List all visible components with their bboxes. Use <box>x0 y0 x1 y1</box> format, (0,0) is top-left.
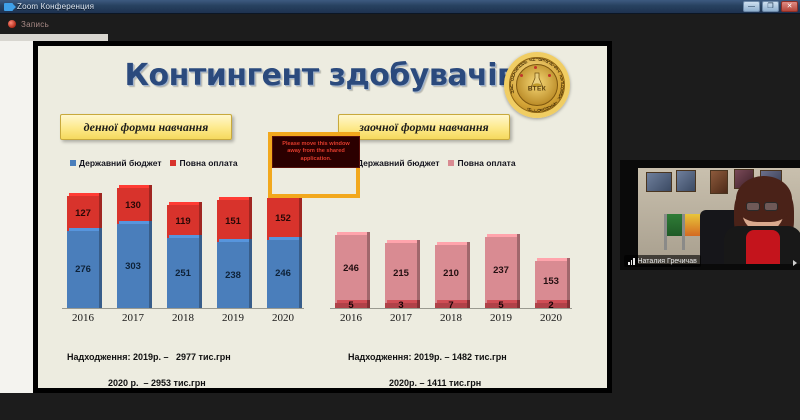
bar-column: 2375 <box>485 186 517 308</box>
bar-column: 127276 <box>67 186 99 308</box>
bar-segment: 151 <box>217 200 249 242</box>
record-dot-icon[interactable] <box>8 20 16 28</box>
emblem-accent-dot <box>548 74 551 77</box>
bar-segment: 303 <box>117 224 149 308</box>
x-axis-label: 2017 <box>117 312 149 324</box>
emblem-accent-dot <box>520 74 523 77</box>
x-axis-label: 2018 <box>167 312 199 324</box>
bar-column: 2107 <box>435 186 467 308</box>
bar-segment: 276 <box>67 231 99 308</box>
x-axis-label: 2019 <box>217 312 249 324</box>
bar-value-label: 5 <box>498 300 503 311</box>
emblem-center-text: ВТЕК <box>528 85 546 92</box>
bar-value-label: 215 <box>393 268 409 279</box>
bar-segment: 238 <box>217 242 249 308</box>
video-feed <box>638 168 800 264</box>
bar-column: 119251 <box>167 186 199 308</box>
bar-value-label: 210 <box>443 268 459 279</box>
legend-label: Повна оплата <box>179 158 237 168</box>
bar-value-label: 130 <box>125 200 141 211</box>
participant-name: Наталия Гречичав <box>638 258 697 265</box>
bar-segment: 246 <box>335 235 367 303</box>
wall-picture <box>646 172 672 192</box>
banner-part-time: заочної форми навчання <box>338 114 510 140</box>
x-axis-label: 2016 <box>335 312 367 324</box>
bar-value-label: 303 <box>125 261 141 272</box>
bar-value-label: 5 <box>348 300 353 311</box>
window-controls[interactable]: — ❐ ✕ <box>743 1 798 12</box>
bar-value-label: 7 <box>448 300 453 311</box>
bar-segment: 251 <box>167 238 199 308</box>
bar-value-label: 246 <box>343 263 359 274</box>
bar-segment: 246 <box>267 240 299 308</box>
participant-name-badge: Наталия Гречичав <box>624 255 701 267</box>
legend-swatch-paid-icon <box>170 160 176 166</box>
x-axis-label: 2018 <box>435 312 467 324</box>
maximize-button[interactable]: ❐ <box>762 1 779 12</box>
chart-x-labels: 20162017201820192020 <box>58 310 308 326</box>
legend-item: Державний бюджет <box>348 158 439 168</box>
close-button[interactable]: ✕ <box>781 1 798 12</box>
window-title: Zoom Конференция <box>17 2 94 11</box>
bar-value-label: 151 <box>225 216 241 227</box>
footnote-line-1: Надходження: 2019р. – 1482 тис.грн <box>348 352 507 362</box>
bar-value-label: 276 <box>75 264 91 275</box>
share-warning-text: Please move this window away from the sh… <box>275 141 357 164</box>
legend-item: Державний бюджет <box>70 158 161 168</box>
bar-segment: 130 <box>117 188 149 224</box>
x-axis-label: 2019 <box>485 312 517 324</box>
chart-bars: 127276130303119251151238152246 <box>58 186 308 308</box>
legend-swatch-budget-icon <box>70 160 76 166</box>
presentation-slide: Контингент здобувачів НАЦІОНАЛЬНИЙ УНІВЕ… <box>38 46 607 388</box>
bar-segment: 237 <box>485 237 517 303</box>
bar-segment: 210 <box>435 245 467 303</box>
wall-picture <box>676 170 696 192</box>
bar-segment: 153 <box>535 261 567 303</box>
flag-yellow-icon <box>682 214 685 250</box>
background-document-toolbar <box>0 34 108 41</box>
legend-swatch-paid-icon <box>448 160 454 166</box>
bar-value-label: 153 <box>543 276 559 287</box>
footnote-full-time: Надходження: 2019р. – 2977 тис.грн 2020 … <box>52 338 231 388</box>
recording-bar: Запись <box>0 14 800 34</box>
bar-segment: 127 <box>67 196 99 231</box>
emblem-accent-dot <box>534 66 537 69</box>
bar-segment: 152 <box>267 198 299 240</box>
minimize-button[interactable]: — <box>743 1 760 12</box>
bar-column: 2153 <box>385 186 417 308</box>
bottom-bar <box>0 393 800 420</box>
bar-column: 152246 <box>267 186 299 308</box>
person-hair <box>736 176 792 222</box>
bar-column: 151238 <box>217 186 249 308</box>
person-red-top <box>746 230 780 264</box>
x-axis-label: 2017 <box>385 312 417 324</box>
zoom-meeting-window: Zoom Конференция — ❐ ✕ Запись Контингент… <box>0 0 800 420</box>
x-axis-label: 2020 <box>535 312 567 324</box>
legend-item: Повна оплата <box>170 158 237 168</box>
legend-label: Державний бюджет <box>357 158 439 168</box>
participant-video-tile[interactable]: Наталия Гречичав <box>620 160 800 270</box>
bar-column: 2465 <box>335 186 367 308</box>
bar-value-label: 119 <box>175 216 190 227</box>
bar-value-label: 152 <box>275 213 291 224</box>
x-axis-label: 2016 <box>67 312 99 324</box>
x-axis-label: 2020 <box>267 312 299 324</box>
bar-segment: 215 <box>385 243 417 303</box>
banner-full-time: денної форми навчання <box>60 114 232 140</box>
legend-part-time: Державний бюджет Повна оплата <box>348 158 516 168</box>
footnote-line-1: Надходження: 2019р. – 2977 тис.грн <box>67 352 231 362</box>
share-warning-tooltip: Please move this window away from the sh… <box>272 136 360 168</box>
chart-axis-line <box>62 308 304 309</box>
bar-value-label: 3 <box>398 300 403 311</box>
legend-item: Повна оплата <box>448 158 515 168</box>
chart-part-time: 24652153210723751532 2016201720182019202… <box>326 186 576 326</box>
flag-green-icon <box>664 214 667 250</box>
bar-value-label: 251 <box>175 268 191 279</box>
recording-label: Запись <box>21 20 49 29</box>
bar-value-label: 127 <box>75 208 91 219</box>
legend-full-time: Державний бюджет Повна оплата <box>70 158 238 168</box>
footnote-line-2: 2020р. – 1411 тис.грн <box>333 377 507 388</box>
window-titlebar[interactable]: Zoom Конференция — ❐ ✕ <box>0 0 800 14</box>
university-emblem: НАЦІОНАЛЬНИЙ УНІВЕРСИТЕТ ХАРЧОВИХ ТЕХНОЛ… <box>504 52 570 118</box>
video-camera-icon <box>4 3 13 11</box>
footnote-line-2: 2020 р. – 2953 тис.грн <box>52 377 231 388</box>
footnote-part-time: Надходження: 2019р. – 1482 тис.грн 2020р… <box>333 338 507 388</box>
bar-value-label: 238 <box>225 270 241 281</box>
bar-column: 130303 <box>117 186 149 308</box>
page-title: Контингент здобувачів <box>110 59 530 93</box>
signal-bars-icon <box>628 258 635 265</box>
legend-label: Державний бюджет <box>79 158 161 168</box>
bar-value-label: 2 <box>548 300 553 311</box>
eyeglasses-icon <box>764 202 778 211</box>
chart-full-time: 127276130303119251151238152246 201620172… <box>58 186 308 326</box>
bar-value-label: 246 <box>275 268 291 279</box>
chart-bars: 24652153210723751532 <box>326 186 576 308</box>
bar-column: 1532 <box>535 186 567 308</box>
chart-x-labels: 20162017201820192020 <box>326 310 576 326</box>
eyeglasses-icon <box>746 202 760 211</box>
bar-segment: 119 <box>167 205 199 238</box>
chevron-right-icon[interactable] <box>793 260 797 266</box>
wall-picture <box>710 170 728 194</box>
legend-label: Повна оплата <box>457 158 515 168</box>
bar-value-label: 237 <box>493 265 509 276</box>
